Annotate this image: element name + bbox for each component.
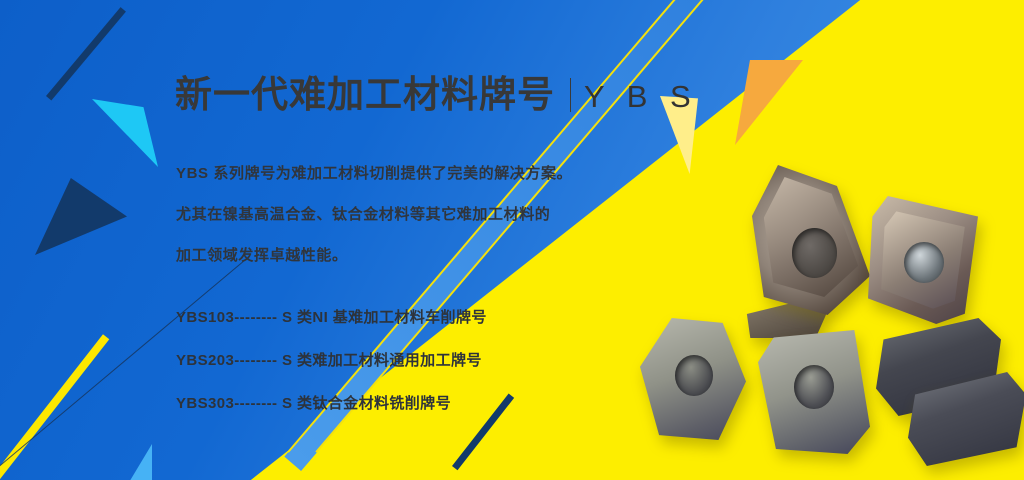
description-line: 尤其在镍基高温合金、钛合金材料等其它难加工材料的	[176, 207, 572, 222]
headline: 新一代难加工材料牌号 Y B S	[175, 76, 698, 113]
ybs-product-banner: 新一代难加工材料牌号 Y B S YBS 系列牌号为难加工材料切削提供了完美的解…	[0, 0, 1024, 480]
description-line: 加工领域发挥卓越性能。	[176, 248, 572, 263]
headline-main: 新一代难加工材料牌号	[175, 76, 555, 113]
headline-brand: Y B S	[584, 81, 698, 112]
banner-text-content: 新一代难加工材料牌号 Y B S YBS 系列牌号为难加工材料切削提供了完美的解…	[175, 0, 645, 480]
grade-item-ybs303: YBS303-------- S 类钛合金材料铣削牌号	[176, 396, 487, 411]
description-line: YBS 系列牌号为难加工材料切削提供了完美的解决方案。	[176, 166, 572, 181]
description-paragraph: YBS 系列牌号为难加工材料切削提供了完美的解决方案。 尤其在镍基高温合金、钛合…	[176, 166, 572, 289]
grade-item-ybs203: YBS203-------- S 类难加工材料通用加工牌号	[176, 353, 487, 368]
grade-list: YBS103-------- S 类NI 基难加工材料车削牌号 YBS203--…	[176, 310, 487, 439]
grade-item-ybs103: YBS103-------- S 类NI 基难加工材料车削牌号	[176, 310, 487, 325]
headline-divider	[570, 78, 571, 112]
